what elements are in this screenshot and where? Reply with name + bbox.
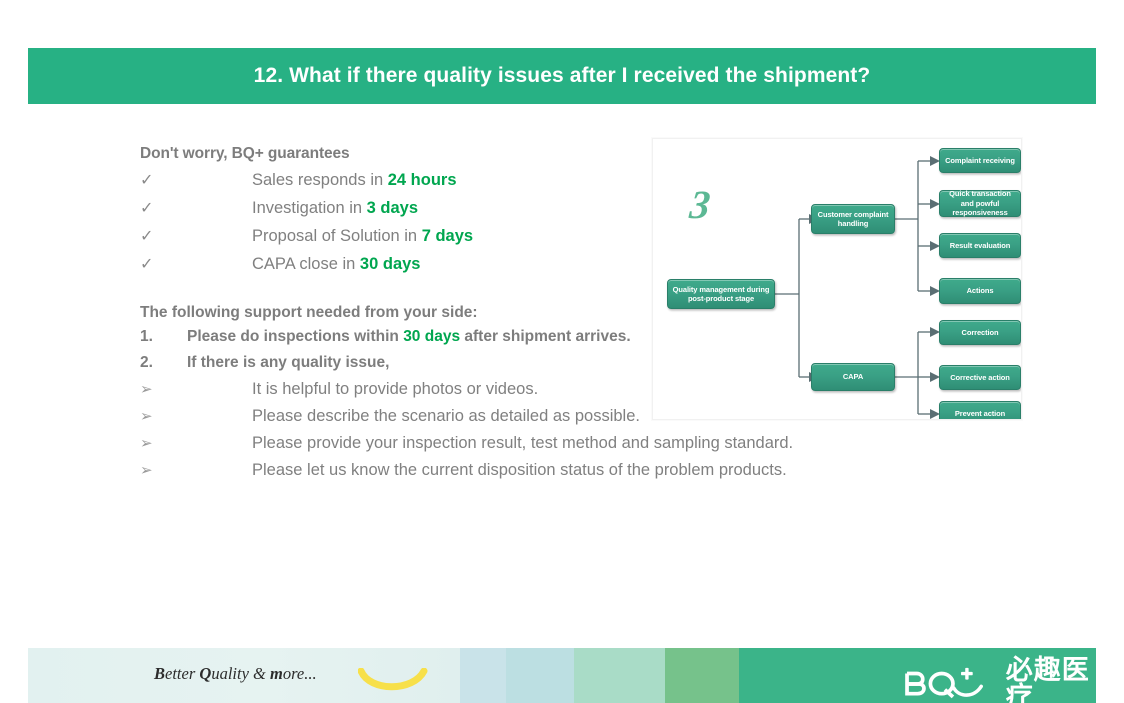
arrow-item-text: Please let us know the current dispositi… <box>252 457 787 484</box>
arrow-item-text: It is helpful to provide photos or video… <box>252 376 538 403</box>
footer-tagline: Better Quality & more... <box>154 664 317 684</box>
list-item: ➢ Please provide your inspection result,… <box>140 430 1020 457</box>
diagram-node-leaf[interactable]: Quick transaction and powful responsiven… <box>939 190 1021 217</box>
footer-band <box>574 648 665 703</box>
highlight-value: 24 hours <box>388 171 457 189</box>
slide: 12. What if there quality issues after I… <box>0 0 1124 703</box>
arrow-bullet-icon: ➢ <box>140 457 252 484</box>
list-item: ➢ Please let us know the current disposi… <box>140 457 1020 484</box>
diagram-node-branch-1[interactable]: Customer complaint handling <box>811 204 895 234</box>
arrow-item-text: Please provide your inspection result, t… <box>252 430 793 457</box>
check-icon: ✓ <box>140 195 252 223</box>
check-icon: ✓ <box>140 251 252 279</box>
check-icon: ✓ <box>140 223 252 251</box>
footer: Better Quality & more... <box>28 648 1096 703</box>
diagram-node-branch-2[interactable]: CAPA <box>811 363 895 391</box>
diagram-node-leaf[interactable]: Result evaluation <box>939 233 1021 258</box>
diagram-node-leaf[interactable]: Complaint receiving <box>939 148 1021 173</box>
header-banner: 12. What if there quality issues after I… <box>28 48 1096 104</box>
highlight-value: 7 days <box>422 227 473 245</box>
footer-band <box>460 648 506 703</box>
smile-icon <box>358 668 428 694</box>
diagram-node-leaf[interactable]: Correction <box>939 320 1021 345</box>
process-diagram: 3 <box>652 138 1022 420</box>
highlight-value: 3 days <box>367 199 418 217</box>
footer-band <box>665 648 739 703</box>
list-number: 2. <box>140 350 187 376</box>
bq-plus-logo-icon <box>903 665 1000 703</box>
list-number: 1. <box>140 324 187 350</box>
guarantee-text: Proposal of Solution in 7 days <box>252 222 473 250</box>
diagram-node-root[interactable]: Quality management during post-product s… <box>667 279 775 309</box>
diagram-node-leaf[interactable]: Corrective action <box>939 365 1021 390</box>
diagram-node-leaf[interactable]: Actions <box>939 278 1021 304</box>
guarantee-text: Sales responds in 24 hours <box>252 166 457 194</box>
highlight-value: 30 days <box>360 255 421 273</box>
guarantee-text: Investigation in 3 days <box>252 194 418 222</box>
arrow-item-text: Please describe the scenario as detailed… <box>252 403 640 430</box>
page-title: 12. What if there quality issues after I… <box>254 64 871 88</box>
footer-band <box>506 648 574 703</box>
diagram-node-leaf[interactable]: Prevent action <box>939 401 1021 420</box>
highlight-value: 30 days <box>403 328 460 345</box>
arrow-bullet-icon: ➢ <box>140 403 252 430</box>
arrow-bullet-icon: ➢ <box>140 376 252 403</box>
numbered-text: If there is any quality issue, <box>187 350 389 376</box>
guarantee-text: CAPA close in 30 days <box>252 250 420 278</box>
numbered-text: Please do inspections within 30 days aft… <box>187 324 631 350</box>
brand-chinese-name: 必趣医疗 <box>1006 657 1096 703</box>
brand-logo: 必趣医疗 <box>903 657 1096 703</box>
arrow-bullet-icon: ➢ <box>140 430 252 457</box>
check-icon: ✓ <box>140 167 252 195</box>
